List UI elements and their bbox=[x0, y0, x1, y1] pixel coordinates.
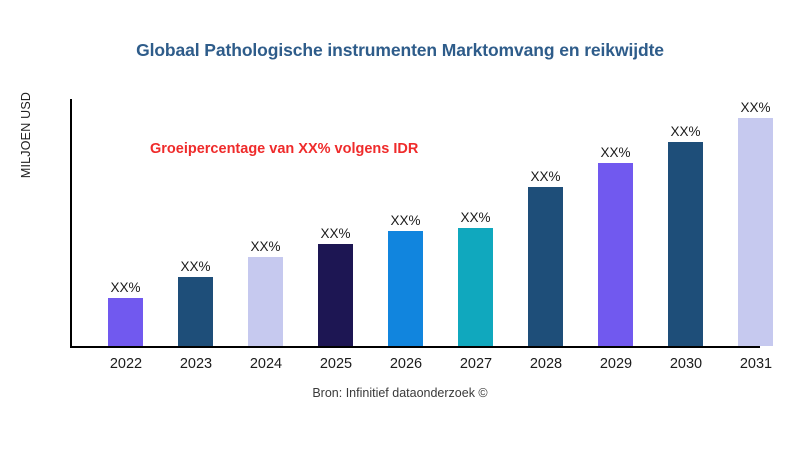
bar-value-label-2024: XX% bbox=[236, 239, 295, 254]
x-axis-line bbox=[70, 346, 760, 348]
bar-2025[interactable] bbox=[318, 244, 353, 346]
bar-value-label-2027: XX% bbox=[446, 210, 505, 225]
bar-value-label-2031: XX% bbox=[726, 100, 785, 115]
page-title: Globaal Pathologische instrumenten Markt… bbox=[0, 40, 800, 61]
bar-2028[interactable] bbox=[528, 187, 563, 346]
bar-value-label-2026: XX% bbox=[376, 213, 435, 228]
x-tick-2023: 2023 bbox=[161, 356, 231, 372]
bar-slot-2030: XX% bbox=[668, 118, 703, 346]
bar-value-label-2028: XX% bbox=[516, 169, 575, 184]
bar-slot-2022: XX% bbox=[108, 274, 143, 346]
bar-2030[interactable] bbox=[668, 142, 703, 346]
y-axis-line bbox=[70, 99, 72, 348]
x-tick-2024: 2024 bbox=[231, 356, 301, 372]
bar-2024[interactable] bbox=[248, 257, 283, 346]
bar-value-label-2022: XX% bbox=[96, 280, 155, 295]
chart-container: Globaal Pathologische instrumenten Markt… bbox=[0, 0, 800, 450]
source-caption: Bron: Infinitief dataonderzoek © bbox=[0, 386, 800, 400]
bar-value-label-2030: XX% bbox=[656, 124, 715, 139]
bar-slot-2029: XX% bbox=[598, 139, 633, 346]
bar-slot-2025: XX% bbox=[318, 220, 353, 346]
bar-slot-2031: XX% bbox=[738, 94, 773, 346]
y-axis-label: MILJOEN USD bbox=[19, 35, 33, 235]
bar-slot-2026: XX% bbox=[388, 207, 423, 346]
bar-2027[interactable] bbox=[458, 228, 493, 346]
x-tick-2022: 2022 bbox=[91, 356, 161, 372]
bar-value-label-2025: XX% bbox=[306, 226, 365, 241]
bar-slot-2027: XX% bbox=[458, 204, 493, 346]
growth-rate-annotation: Groeipercentage van XX% volgens IDR bbox=[150, 141, 418, 157]
x-tick-2031: 2031 bbox=[721, 356, 791, 372]
plot-area: Groeipercentage van XX% volgens IDR XX%X… bbox=[70, 99, 780, 348]
bar-value-label-2029: XX% bbox=[586, 145, 645, 160]
bar-slot-2024: XX% bbox=[248, 233, 283, 346]
bar-2029[interactable] bbox=[598, 163, 633, 346]
bar-slot-2023: XX% bbox=[178, 253, 213, 346]
bar-value-label-2023: XX% bbox=[166, 259, 225, 274]
x-tick-2025: 2025 bbox=[301, 356, 371, 372]
bar-2023[interactable] bbox=[178, 277, 213, 346]
bar-2031[interactable] bbox=[738, 118, 773, 346]
x-tick-2029: 2029 bbox=[581, 356, 651, 372]
bar-2022[interactable] bbox=[108, 298, 143, 346]
x-tick-2030: 2030 bbox=[651, 356, 721, 372]
bar-2026[interactable] bbox=[388, 231, 423, 346]
x-tick-2027: 2027 bbox=[441, 356, 511, 372]
bar-slot-2028: XX% bbox=[528, 163, 563, 346]
x-tick-2026: 2026 bbox=[371, 356, 441, 372]
x-tick-2028: 2028 bbox=[511, 356, 581, 372]
